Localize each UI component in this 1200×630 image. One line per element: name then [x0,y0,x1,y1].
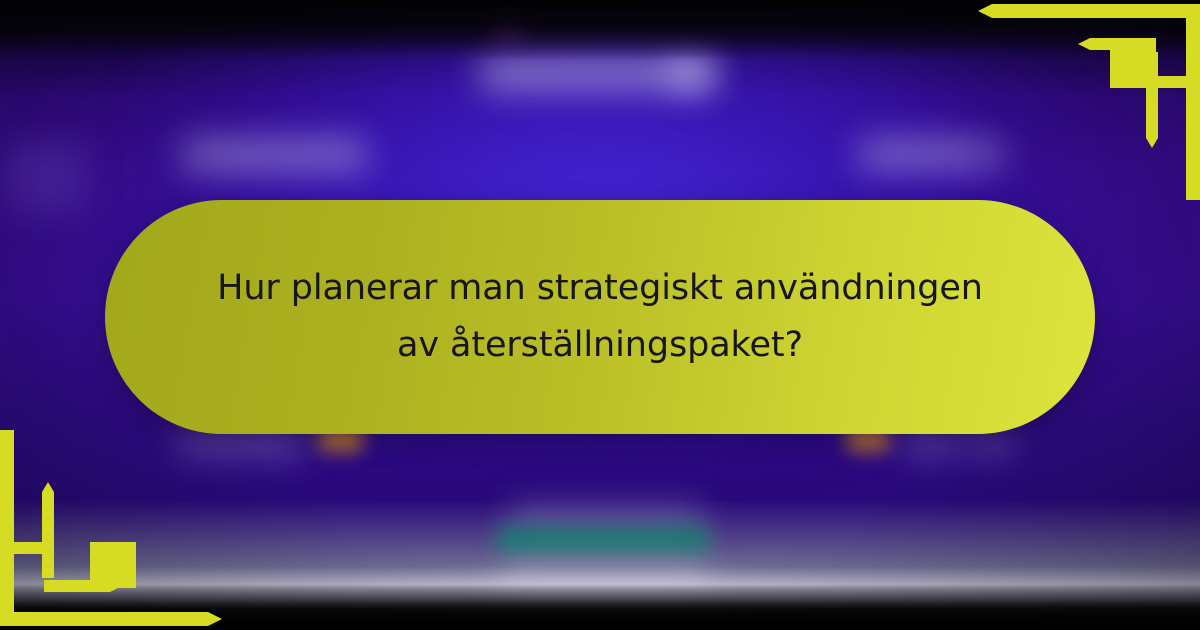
share-card-canvas: Hur planerar man strategiskt användninge… [0,0,1200,630]
question-card: Hur planerar man strategiskt användninge… [105,200,1095,434]
question-text: Hur planerar man strategiskt användninge… [165,260,1035,373]
